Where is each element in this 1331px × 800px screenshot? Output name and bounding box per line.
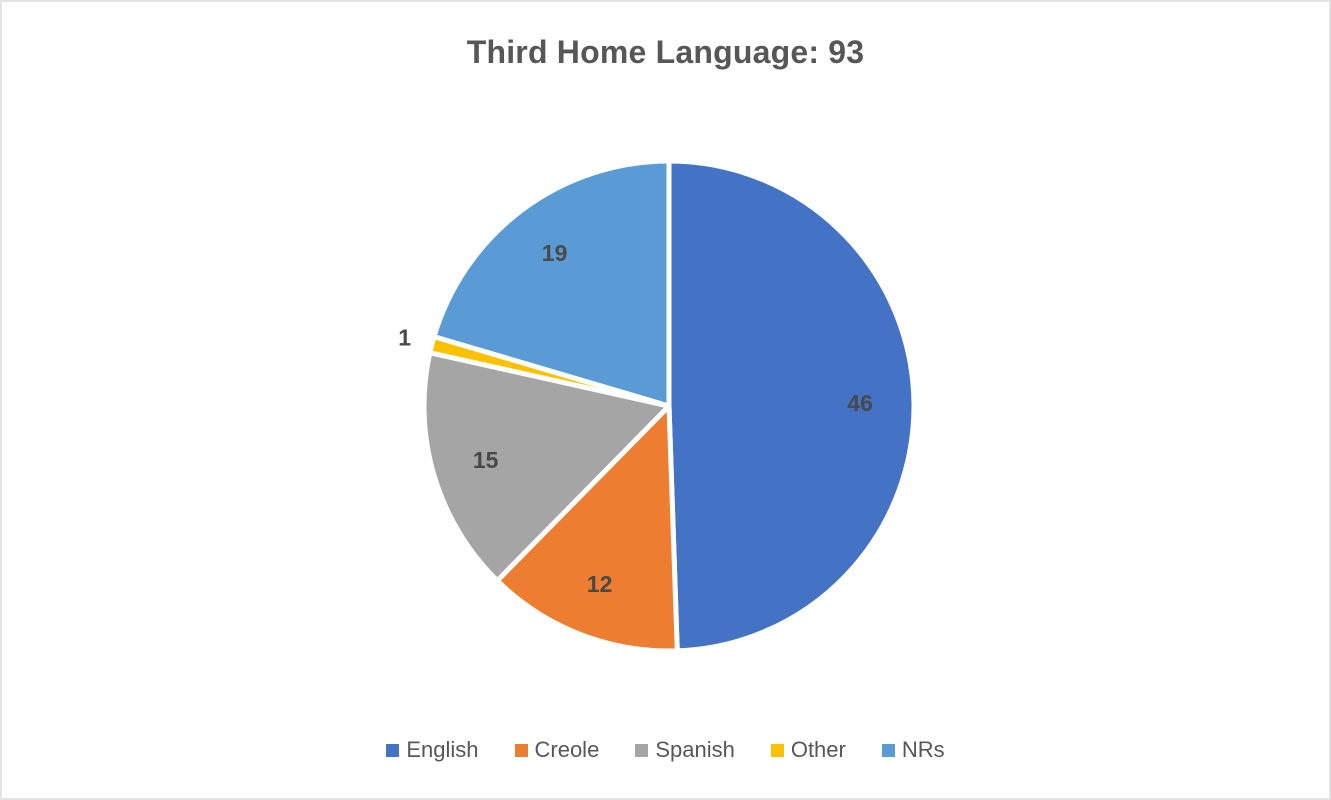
- legend-swatch-spanish: [635, 744, 648, 757]
- pie-slice-group: [424, 161, 914, 651]
- pie-data-label-creole: 12: [587, 571, 613, 597]
- legend-swatch-creole: [515, 744, 528, 757]
- legend-item-nrs[interactable]: NRs: [882, 737, 945, 763]
- legend-swatch-nrs: [882, 744, 895, 757]
- legend-label-other: Other: [791, 737, 846, 763]
- legend-item-english[interactable]: English: [386, 737, 478, 763]
- pie-slice-english[interactable]: [669, 161, 914, 651]
- legend-label-spanish: Spanish: [655, 737, 735, 763]
- legend-item-other[interactable]: Other: [771, 737, 846, 763]
- legend-label-creole: Creole: [535, 737, 600, 763]
- chart-legend: English Creole Spanish Other NRs: [2, 737, 1329, 763]
- legend-item-creole[interactable]: Creole: [515, 737, 600, 763]
- legend-label-nrs: NRs: [902, 737, 945, 763]
- pie-plot-area: 461215119: [2, 2, 1331, 732]
- pie-data-label-nrs: 19: [542, 240, 568, 266]
- pie-data-label-other: 1: [398, 325, 411, 351]
- legend-swatch-other: [771, 744, 784, 757]
- chart-container: Third Home Language: 93 461215119 Englis…: [0, 0, 1331, 800]
- legend-label-english: English: [406, 737, 478, 763]
- legend-swatch-english: [386, 744, 399, 757]
- legend-item-spanish[interactable]: Spanish: [635, 737, 735, 763]
- pie-data-label-spanish: 15: [473, 447, 499, 473]
- pie-chart-svg: 461215119: [2, 2, 1331, 732]
- pie-data-label-english: 46: [847, 390, 873, 416]
